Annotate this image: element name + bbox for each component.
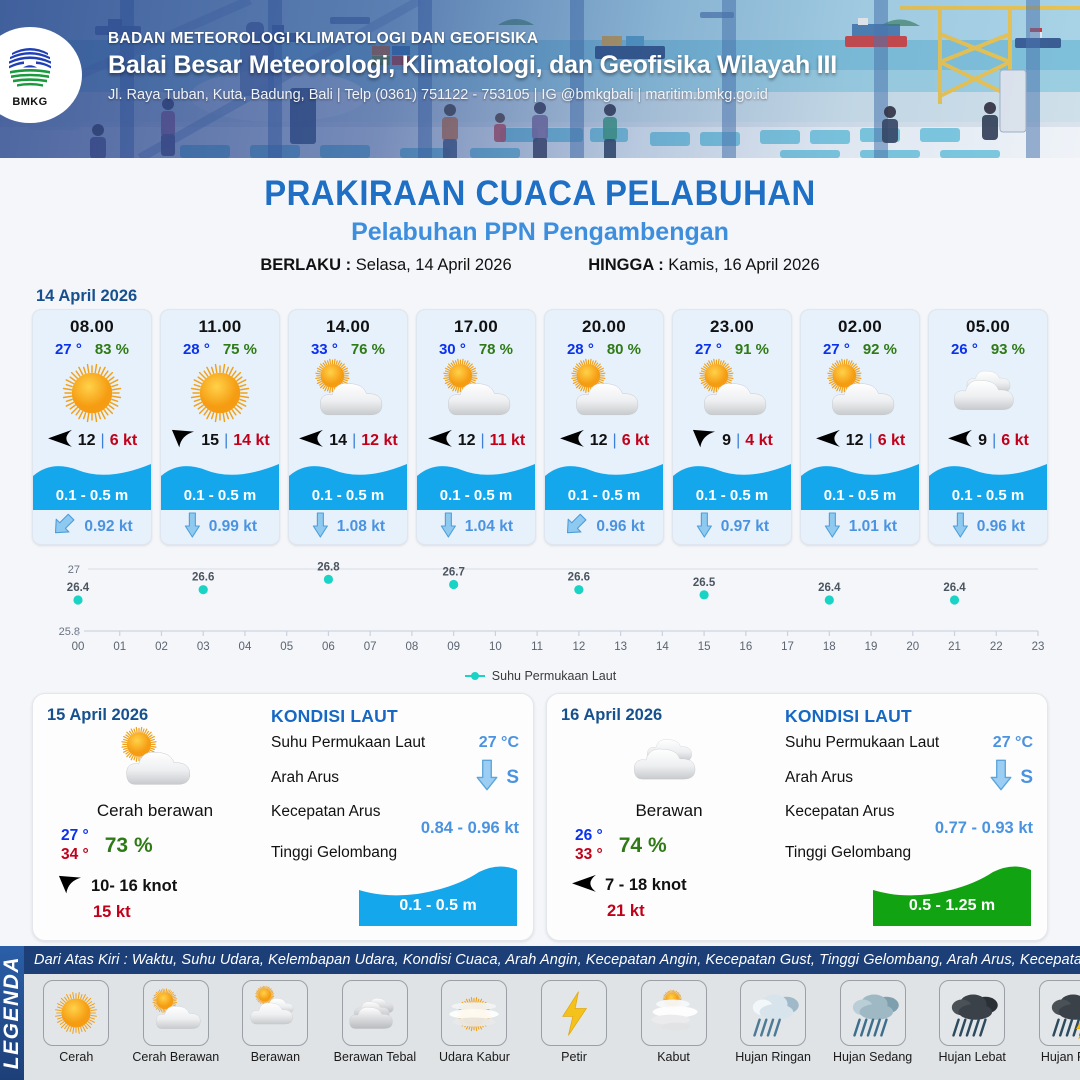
daily-gust: 21 kt <box>561 902 777 921</box>
chart-legend: Suhu Permukaan Laut <box>0 669 1080 683</box>
arrow-left-icon <box>559 429 585 453</box>
legend-marker-icon <box>464 671 486 681</box>
svg-text:26.6: 26.6 <box>192 572 214 584</box>
daily-temp-max: 33 ° <box>575 846 603 864</box>
svg-text:27: 27 <box>68 564 80 576</box>
haze-icon <box>441 980 507 1046</box>
hourly-forecast-row: 08.00 27 ° 83 % 12 | 6 kt 0.1 - 0.5 m 0.… <box>0 309 1080 545</box>
card-time: 11.00 <box>161 310 279 337</box>
card-wave-band: 0.1 - 0.5 m <box>673 456 791 510</box>
wave-height-label: Tinggi Gelombang <box>271 844 519 862</box>
arrow-down-left-icon <box>691 428 717 453</box>
hourly-card[interactable]: 17.00 30 ° 78 % 12 | 11 kt 0.1 - 0.5 m 1… <box>416 309 536 545</box>
light-rain-icon <box>740 980 806 1046</box>
sun-cloud-icon <box>801 360 919 426</box>
card-gust-speed: 6 kt <box>1001 432 1029 450</box>
card-wave-height: 0.1 - 0.5 m <box>801 487 919 504</box>
legend-note: Dari Atas Kiri : Waktu, Suhu Udara, Kele… <box>24 946 1080 974</box>
legend-item-label: Udara Kabur <box>439 1050 510 1064</box>
wave-height-value: 0.1 - 0.5 m <box>359 897 517 915</box>
hourly-card[interactable]: 14.00 33 ° 76 % 14 | 12 kt 0.1 - 0.5 m 1… <box>288 309 408 545</box>
legend-item-label: Cerah Berawan <box>132 1050 219 1064</box>
card-time: 17.00 <box>417 310 535 337</box>
wave-height-label: Tinggi Gelombang <box>785 844 1033 862</box>
wave-height-badge: 0.5 - 1.25 m <box>873 864 1031 926</box>
sun-cloud-icon <box>417 360 535 426</box>
sea-condition-heading: KONDISI LAUT <box>785 706 1033 727</box>
svg-text:05: 05 <box>280 641 293 653</box>
card-current-speed: 1.04 kt <box>465 518 513 536</box>
svg-text:26.5: 26.5 <box>693 577 716 589</box>
current-direction-label: Arah Arus <box>271 769 339 787</box>
contact-info: Jl. Raya Tuban, Kuta, Badung, Bali | Tel… <box>108 87 837 103</box>
arrow-left-icon <box>571 874 597 898</box>
office-name: Balai Besar Meteorologi, Klimatologi, da… <box>108 51 837 80</box>
cloud-icon <box>929 360 1047 426</box>
legend-items: Cerah Cerah Berawan Berawan Berawan Teba… <box>24 974 1080 1080</box>
card-wave-height: 0.1 - 0.5 m <box>417 487 535 504</box>
legend-side-banner: LEGENDA <box>0 946 24 1080</box>
arrow-down-left-icon <box>57 874 83 899</box>
svg-text:01: 01 <box>113 641 126 653</box>
legend-item: Kabut <box>625 980 722 1064</box>
daily-humidity: 74 % <box>619 834 667 858</box>
legend-item: Petir <box>526 980 623 1064</box>
card-gust-speed: 14 kt <box>233 432 269 450</box>
card-separator: | <box>101 432 105 450</box>
sst-label: Suhu Permukaan Laut <box>785 734 939 752</box>
sun-cloud-icon <box>289 360 407 426</box>
daily-temp-max: 34 ° <box>61 846 89 864</box>
svg-text:26.6: 26.6 <box>568 572 590 584</box>
card-separator: | <box>481 432 485 450</box>
sun-cloud-icon <box>47 727 263 797</box>
legend-item: Berawan Tebal <box>327 980 424 1064</box>
card-wave-height: 0.1 - 0.5 m <box>161 487 279 504</box>
card-gust-speed: 6 kt <box>878 432 906 450</box>
lightning-icon <box>541 980 607 1046</box>
legend-item: Hujan Petir <box>1023 980 1080 1064</box>
card-wave-band: 0.1 - 0.5 m <box>417 456 535 510</box>
card-separator: | <box>613 432 617 450</box>
legend-item-label: Hujan Sedang <box>833 1050 912 1064</box>
daily-condition: Berawan <box>561 801 777 821</box>
card-separator: | <box>352 432 356 450</box>
arrow-left-icon <box>298 429 324 453</box>
arrow-left-icon <box>47 429 73 453</box>
sun-cloud-icon <box>545 360 663 426</box>
sun-icon <box>43 980 109 1046</box>
header-text-block: BADAN METEOROLOGI KLIMATOLOGI DAN GEOFIS… <box>108 30 837 103</box>
legend-item-label: Hujan Ringan <box>735 1050 811 1064</box>
svg-text:15: 15 <box>698 641 711 653</box>
arrow-left-icon <box>427 429 453 453</box>
arrow-down-icon <box>439 512 458 543</box>
current-direction-value: S <box>506 767 519 789</box>
card-current-speed: 1.01 kt <box>849 518 897 536</box>
valid-until-label: HINGGA : <box>588 256 663 274</box>
card-wind-speed: 12 <box>458 432 476 450</box>
card-wind-speed: 14 <box>329 432 347 450</box>
arrow-down-icon <box>476 759 498 796</box>
arrow-left-icon <box>947 429 973 453</box>
sst-value: 27 °C <box>479 734 519 752</box>
arrow-down-icon <box>990 759 1012 796</box>
page-title-block: PRAKIRAAN CUACA PELABUHAN Pelabuhan PPN … <box>0 174 1080 275</box>
card-gust-speed: 6 kt <box>110 432 138 450</box>
card-gust-speed: 6 kt <box>622 432 650 450</box>
card-wind-speed: 12 <box>78 432 96 450</box>
card-wind-speed: 12 <box>846 432 864 450</box>
cloud-sun-small-icon <box>242 980 308 1046</box>
legend-item: Cerah Berawan <box>128 980 225 1064</box>
card-wave-height: 0.1 - 0.5 m <box>673 487 791 504</box>
legend-item-label: Petir <box>561 1050 587 1064</box>
bmkg-logo-mark <box>2 43 58 95</box>
daily-condition: Cerah berawan <box>47 801 263 821</box>
card-current-speed: 0.96 kt <box>596 518 644 536</box>
svg-text:18: 18 <box>823 641 836 653</box>
bmkg-logo-text: BMKG <box>12 96 47 108</box>
hourly-card[interactable]: 23.00 27 ° 91 % 9 | 4 kt 0.1 - 0.5 m 0.9… <box>672 309 792 545</box>
daily-temp-min: 26 ° <box>575 827 603 845</box>
card-current-speed: 0.97 kt <box>721 518 769 536</box>
card-wave-band: 0.1 - 0.5 m <box>33 456 151 510</box>
card-wind-speed: 15 <box>201 432 219 450</box>
card-wave-band: 0.1 - 0.5 m <box>801 456 919 510</box>
hourly-card[interactable]: 05.00 26 ° 93 % 9 | 6 kt 0.1 - 0.5 m 0.9… <box>928 309 1048 545</box>
page-title: PRAKIRAAN CUACA PELABUHAN <box>32 174 1047 214</box>
legend-item-label: Hujan Lebat <box>938 1050 1005 1064</box>
validity-row: BERLAKU : Selasa, 14 April 2026 HINGGA :… <box>0 256 1080 275</box>
arrow-left-icon <box>815 429 841 453</box>
wave-height-value: 0.5 - 1.25 m <box>873 897 1031 915</box>
card-wind-speed: 9 <box>722 432 731 450</box>
card-gust-speed: 12 kt <box>361 432 397 450</box>
arrow-down-icon <box>311 512 330 543</box>
sun-cloud-icon <box>673 360 791 426</box>
svg-text:16: 16 <box>739 641 752 653</box>
arrow-down-icon <box>951 512 970 543</box>
card-time: 05.00 <box>929 310 1047 337</box>
card-separator: | <box>224 432 228 450</box>
thunderstorm-icon <box>1039 980 1080 1046</box>
legend-label-sst: Suhu Permukaan Laut <box>492 669 616 683</box>
page-header: BMKG BADAN METEOROLOGI KLIMATOLOGI DAN G… <box>0 0 1080 158</box>
sea-condition-heading: KONDISI LAUT <box>271 706 519 727</box>
daily-forecast-panel[interactable]: 16 April 2026 Berawan 26 ° 33 ° 74 % 7 -… <box>546 693 1048 941</box>
daily-wind-range: 7 - 18 knot <box>605 876 687 895</box>
svg-text:08: 08 <box>406 641 419 653</box>
card-wind-speed: 9 <box>978 432 987 450</box>
hourly-card[interactable]: 08.00 27 ° 83 % 12 | 6 kt 0.1 - 0.5 m 0.… <box>32 309 152 545</box>
svg-text:13: 13 <box>614 641 627 653</box>
card-wave-height: 0.1 - 0.5 m <box>545 487 663 504</box>
cloud-icon <box>561 727 777 797</box>
legend-item-label: Kabut <box>657 1050 690 1064</box>
legend-item: Cerah <box>28 980 125 1064</box>
card-wave-band: 0.1 - 0.5 m <box>161 456 279 510</box>
valid-from-label: BERLAKU : <box>260 256 351 274</box>
arrow-down-icon <box>183 512 202 543</box>
legend-item: Hujan Ringan <box>725 980 822 1064</box>
sun-icon <box>161 360 279 426</box>
arrow-down-left-icon <box>170 428 196 453</box>
heavy-rain-icon <box>939 980 1005 1046</box>
svg-text:00: 00 <box>72 641 85 653</box>
thick-cloud-icon <box>342 980 408 1046</box>
card-wave-band: 0.1 - 0.5 m <box>289 456 407 510</box>
svg-text:26.7: 26.7 <box>442 567 464 579</box>
svg-text:11: 11 <box>531 641 543 653</box>
card-time: 20.00 <box>545 310 663 337</box>
hourly-card[interactable]: 11.00 28 ° 75 % 15 | 14 kt 0.1 - 0.5 m 0… <box>160 309 280 545</box>
current-direction-label: Arah Arus <box>785 769 853 787</box>
sst-chart: 2725.80001020304050607080910111213141516… <box>30 555 1050 667</box>
svg-text:10: 10 <box>489 641 502 653</box>
hourly-card[interactable]: 02.00 27 ° 92 % 12 | 6 kt 0.1 - 0.5 m 1.… <box>800 309 920 545</box>
svg-text:26.4: 26.4 <box>818 582 841 594</box>
svg-text:17: 17 <box>781 641 794 653</box>
legend-item-label: Berawan <box>251 1050 300 1064</box>
svg-text:21: 21 <box>948 641 961 653</box>
legend-section: LEGENDA Dari Atas Kiri : Waktu, Suhu Uda… <box>0 946 1080 1080</box>
card-time: 02.00 <box>801 310 919 337</box>
daily-humidity: 73 % <box>105 834 153 858</box>
sst-label: Suhu Permukaan Laut <box>271 734 425 752</box>
svg-text:12: 12 <box>572 641 585 653</box>
svg-text:07: 07 <box>364 641 377 653</box>
legend-item: Udara Kabur <box>426 980 523 1064</box>
fog-icon <box>641 980 707 1046</box>
legend-item: Berawan <box>227 980 324 1064</box>
wave-height-badge: 0.1 - 0.5 m <box>359 864 517 926</box>
card-wave-height: 0.1 - 0.5 m <box>33 487 151 504</box>
svg-text:19: 19 <box>865 641 878 653</box>
hourly-date-label: 14 April 2026 <box>36 287 1080 306</box>
legend-item-label: Cerah <box>59 1050 93 1064</box>
arrow-down-icon <box>823 512 842 543</box>
svg-text:26.8: 26.8 <box>317 561 340 573</box>
valid-until-value: Kamis, 16 April 2026 <box>668 256 819 274</box>
legend-item-label: Hujan Petir <box>1041 1050 1080 1064</box>
card-gust-speed: 11 kt <box>490 432 526 450</box>
arrow-down-left-icon <box>563 513 589 540</box>
daily-forecast-row: 15 April 2026 Cerah berawan 27 ° 34 ° 73… <box>0 683 1080 941</box>
card-wave-height: 0.1 - 0.5 m <box>289 487 407 504</box>
svg-text:22: 22 <box>990 641 1003 653</box>
svg-text:09: 09 <box>447 641 460 653</box>
svg-text:03: 03 <box>197 641 210 653</box>
sun-cloud-icon <box>143 980 209 1046</box>
valid-from-value: Selasa, 14 April 2026 <box>356 256 512 274</box>
daily-gust: 15 kt <box>47 903 263 922</box>
legend-item-label: Berawan Tebal <box>334 1050 416 1064</box>
legend-item: Hujan Lebat <box>924 980 1021 1064</box>
card-current-speed: 0.99 kt <box>209 518 257 536</box>
card-current-speed: 1.08 kt <box>337 518 385 536</box>
svg-text:25.8: 25.8 <box>59 626 80 638</box>
daily-forecast-panel[interactable]: 15 April 2026 Cerah berawan 27 ° 34 ° 73… <box>32 693 534 941</box>
legend-item: Hujan Sedang <box>824 980 921 1064</box>
card-wave-band: 0.1 - 0.5 m <box>545 456 663 510</box>
card-wave-height: 0.1 - 0.5 m <box>929 487 1047 504</box>
current-speed-value: 0.77 - 0.93 kt <box>785 819 1033 838</box>
current-speed-value: 0.84 - 0.96 kt <box>271 819 519 838</box>
moderate-rain-icon <box>840 980 906 1046</box>
daily-wind-range: 10- 16 knot <box>91 877 177 896</box>
card-time: 14.00 <box>289 310 407 337</box>
hourly-card[interactable]: 20.00 28 ° 80 % 12 | 6 kt 0.1 - 0.5 m 0.… <box>544 309 664 545</box>
card-wave-band: 0.1 - 0.5 m <box>929 456 1047 510</box>
svg-text:23: 23 <box>1032 641 1045 653</box>
card-gust-speed: 4 kt <box>745 432 773 450</box>
card-time: 23.00 <box>673 310 791 337</box>
card-time: 08.00 <box>33 310 151 337</box>
arrow-down-icon <box>695 512 714 543</box>
daily-temp-min: 27 ° <box>61 827 89 845</box>
svg-text:14: 14 <box>656 641 669 653</box>
svg-text:20: 20 <box>906 641 919 653</box>
agency-name: BADAN METEOROLOGI KLIMATOLOGI DAN GEOFIS… <box>108 30 837 48</box>
card-separator: | <box>736 432 740 450</box>
card-separator: | <box>992 432 996 450</box>
svg-text:04: 04 <box>239 641 252 653</box>
legend-side-label: LEGENDA <box>0 956 24 1069</box>
svg-text:26.4: 26.4 <box>943 582 966 594</box>
arrow-down-left-icon <box>51 513 77 540</box>
sst-value: 27 °C <box>993 734 1033 752</box>
svg-text:06: 06 <box>322 641 335 653</box>
sun-icon <box>33 360 151 426</box>
card-separator: | <box>869 432 873 450</box>
svg-text:26.4: 26.4 <box>67 582 90 594</box>
card-current-speed: 0.92 kt <box>84 518 132 536</box>
svg-text:02: 02 <box>155 641 168 653</box>
card-wind-speed: 12 <box>590 432 608 450</box>
card-current-speed: 0.96 kt <box>977 518 1025 536</box>
current-direction-value: S <box>1020 767 1033 789</box>
page-subtitle: Pelabuhan PPN Pengambengan <box>0 218 1080 247</box>
